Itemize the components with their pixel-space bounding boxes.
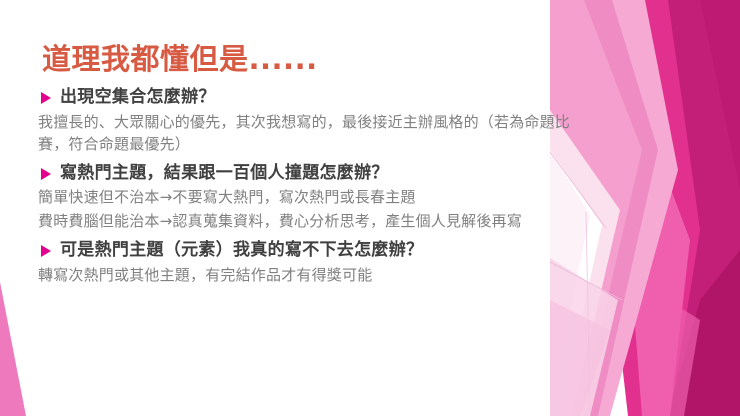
question-text: 出現空集合怎麼辦？ — [60, 86, 216, 109]
answer-text: 簡單快速但不治本→不要寫大熱門，寫次熱門或長春主題 — [38, 187, 581, 209]
question-row: 出現空集合怎麼辦？ — [36, 86, 581, 109]
question-row: 可是熱門主題（元素）我真的寫不下去怎麼辦？ — [36, 239, 581, 262]
question-text: 可是熱門主題（元素）我真的寫不下去怎麼辦？ — [60, 239, 423, 262]
qa-block: 出現空集合怎麼辦？ 我擅長的、大眾關心的優先，其次我想寫的，最後接近主辦風格的（… — [36, 86, 581, 156]
answer-text: 費時費腦但能治本→認真蒐集資料，費心分析思考，產生個人見解後再寫 — [38, 211, 581, 233]
qa-block: 可是熱門主題（元素）我真的寫不下去怎麼辦？ 轉寫次熱門或其他主題，有完結作品才有… — [36, 239, 581, 287]
triangle-bullet-icon — [41, 168, 51, 180]
qa-block: 寫熱門主題，結果跟一百個人撞題怎麼辦？ 簡單快速但不治本→不要寫大熱門，寫次熱門… — [36, 162, 581, 234]
answer-text: 我擅長的、大眾關心的優先，其次我想寫的，最後接近主辦風格的（若為命題比賽，符合命… — [38, 112, 581, 156]
triangle-bullet-icon — [41, 92, 51, 104]
triangle-bullet-icon — [41, 245, 51, 257]
slide-title: 道理我都懂但是...... — [42, 36, 318, 78]
slide-content: 道理我都懂但是...... 出現空集合怎麼辦？ 我擅長的、大眾關心的優先，其次我… — [0, 0, 600, 416]
question-text: 寫熱門主題，結果跟一百個人撞題怎麼辦？ — [60, 162, 389, 185]
answer-text: 轉寫次熱門或其他主題，有完結作品才有得獎可能 — [38, 265, 581, 287]
question-row: 寫熱門主題，結果跟一百個人撞題怎麼辦？ — [36, 162, 581, 185]
qa-block-list: 出現空集合怎麼辦？ 我擅長的、大眾關心的優先，其次我想寫的，最後接近主辦風格的（… — [36, 86, 581, 293]
slide-canvas: 道理我都懂但是...... 出現空集合怎麼辦？ 我擅長的、大眾關心的優先，其次我… — [0, 0, 740, 416]
